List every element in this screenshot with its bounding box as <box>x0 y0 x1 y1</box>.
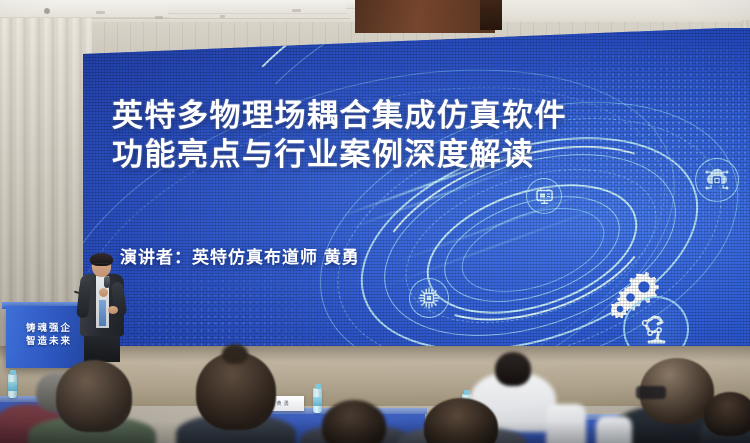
attendee-head <box>56 360 132 432</box>
attendee-hair-bun <box>222 344 248 364</box>
podium-slogan-line-2: 智造未来 <box>10 335 88 348</box>
bottle-cap <box>10 370 16 375</box>
name-card-text: 黄 勇 <box>277 400 290 407</box>
chip-cloud-icon <box>695 158 739 202</box>
ceiling-light <box>44 8 50 14</box>
podium-slogan-line-1: 铸魂强企 <box>10 322 88 335</box>
title-line-2: 功能亮点与行业案例深度解读 <box>112 135 582 174</box>
podium-slogan: 铸魂强企 智造未来 <box>10 322 88 348</box>
speaker-credit: 演讲者：英特仿真布道师 黄勇 <box>120 243 360 268</box>
attendee-head <box>495 352 531 386</box>
bottle-cap <box>464 390 470 395</box>
wood-wall-panel <box>355 0 495 33</box>
led-screen <box>83 28 750 358</box>
speaker-hand-left <box>99 288 108 297</box>
speaker-tie <box>99 300 106 326</box>
title-line-1: 英特多物理场耦合集成仿真软件 <box>112 96 582 135</box>
ceiling-panel <box>168 0 348 14</box>
bottle-label <box>8 382 17 391</box>
speaker-glasses <box>94 263 109 268</box>
speaker-legs <box>84 334 120 362</box>
chair-back <box>546 404 586 443</box>
wood-wall-panel <box>480 0 502 30</box>
ceiling-vent <box>155 16 163 19</box>
bottle-cap <box>315 384 321 389</box>
bottle-label <box>313 397 322 406</box>
microphone-handheld <box>104 276 110 288</box>
speaker-hand-right <box>108 306 118 314</box>
ceiling-vent <box>220 15 225 18</box>
attendee-glasses <box>636 386 666 399</box>
monitor-icon <box>526 178 562 214</box>
ceiling-vent <box>96 11 105 14</box>
chair-back <box>596 416 632 443</box>
presentation-title: 英特多物理场耦合集成仿真软件 功能亮点与行业案例深度解读 <box>112 96 582 174</box>
conference-photo: 英特多物理场耦合集成仿真软件 功能亮点与行业案例深度解读 演讲者：英特仿真布道师… <box>0 0 750 443</box>
ceiling-panel <box>0 0 170 18</box>
ceiling-vent <box>292 9 301 12</box>
attendee-head <box>704 392 750 436</box>
cpu-chip-icon <box>409 278 449 318</box>
attendee-head <box>322 400 386 443</box>
